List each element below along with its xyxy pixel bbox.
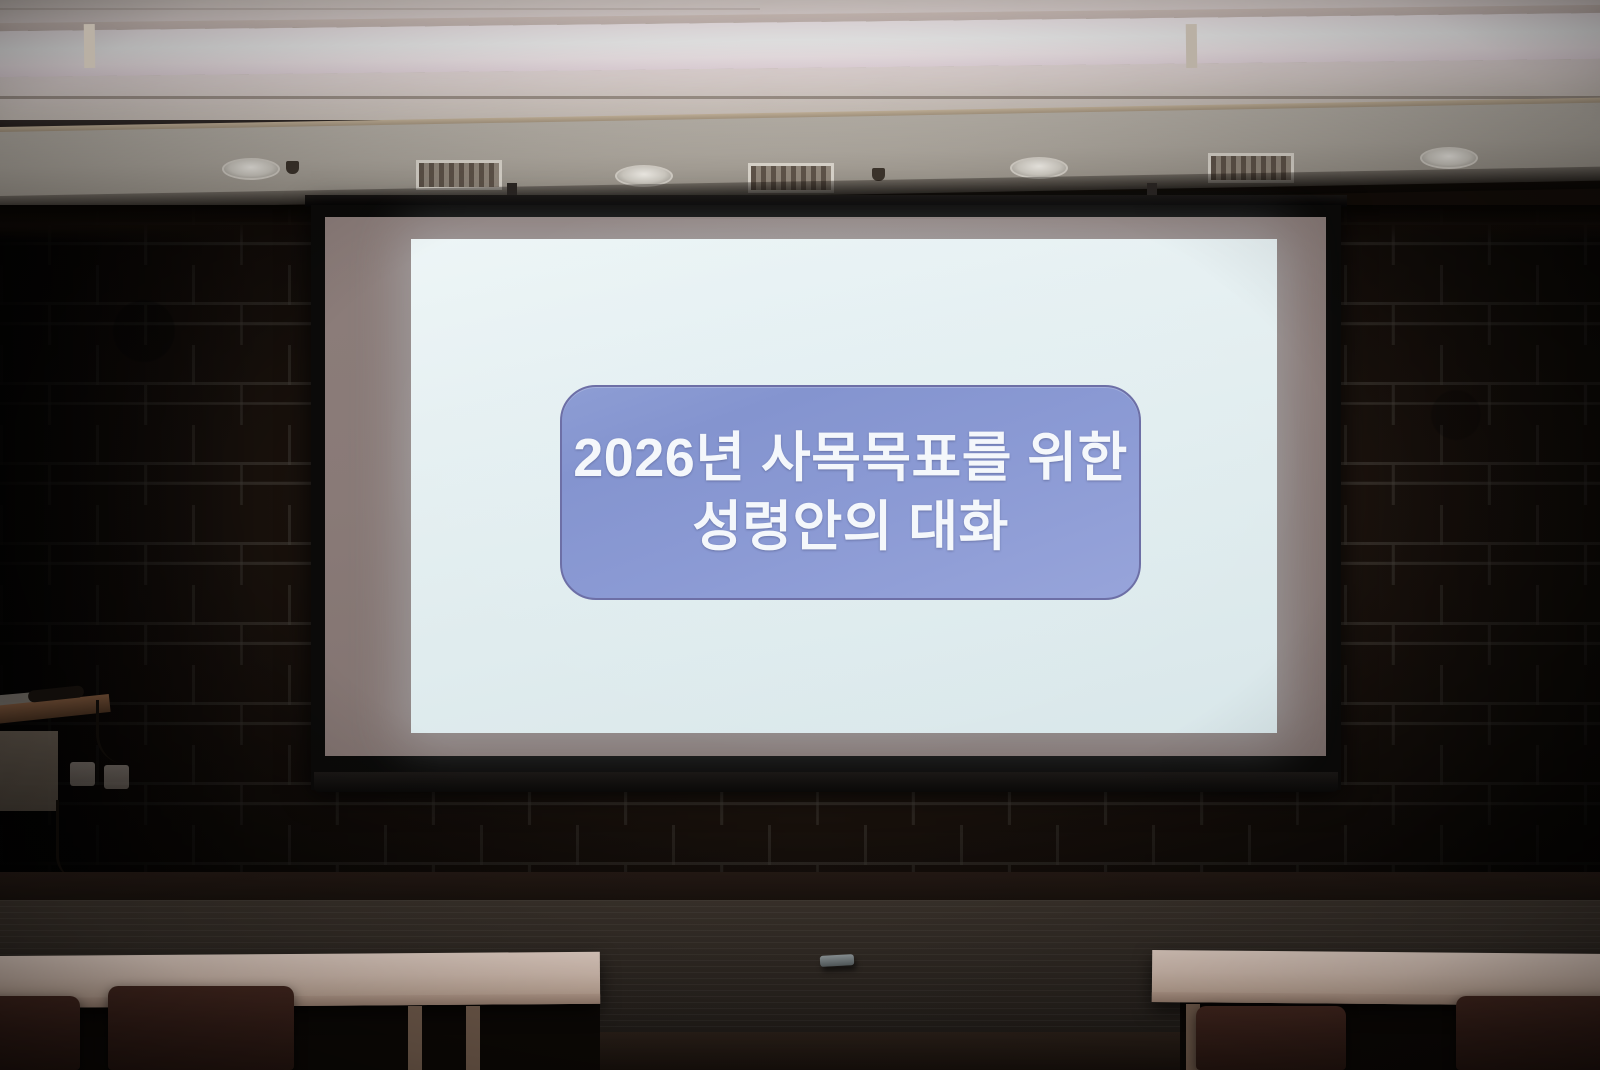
- slide-title-line-2: 성령안의 대화: [692, 493, 1009, 561]
- recessed-downlight-icon: [1420, 147, 1478, 169]
- power-outlet-icon[interactable]: [104, 765, 129, 789]
- screen-weight-bar: [314, 772, 1338, 792]
- power-outlet-icon[interactable]: [70, 762, 95, 786]
- floor-object: [820, 954, 855, 967]
- cable: [56, 800, 80, 880]
- left-chair-secondary[interactable]: [0, 996, 80, 1070]
- ceiling-panel-seam: [0, 8, 760, 10]
- lecture-room-scene: 2026년 사목목표를 위한 성령안의 대화: [0, 0, 1600, 1070]
- fluorescent-divider-icon: [1186, 24, 1197, 68]
- wall-panel: [0, 731, 58, 811]
- ceiling-seam: [0, 96, 1600, 99]
- fluorescent-divider-icon: [84, 24, 95, 68]
- desk-leg: [466, 1006, 480, 1070]
- left-chair[interactable]: [108, 986, 294, 1070]
- right-chair-secondary[interactable]: [1456, 996, 1600, 1070]
- right-chair[interactable]: [1196, 1006, 1346, 1070]
- slide-title-box: 2026년 사목목표를 위한 성령안의 대화: [560, 385, 1141, 600]
- projected-slide: 2026년 사목목표를 위한 성령안의 대화: [411, 239, 1277, 733]
- recessed-downlight-icon: [222, 158, 280, 180]
- screen-surface: 2026년 사목목표를 위한 성령안의 대화: [325, 217, 1326, 756]
- desk-leg: [408, 1006, 422, 1070]
- front-left-desk[interactable]: [0, 952, 600, 1008]
- desk-understructure: [0, 1000, 600, 1070]
- ceiling-vent-grille-icon: [416, 160, 502, 190]
- sprinkler-head-icon: [286, 161, 299, 174]
- slide-title-line-1: 2026년 사목목표를 위한: [573, 424, 1128, 492]
- projection-screen[interactable]: 2026년 사목목표를 위한 성령안의 대화: [311, 205, 1341, 790]
